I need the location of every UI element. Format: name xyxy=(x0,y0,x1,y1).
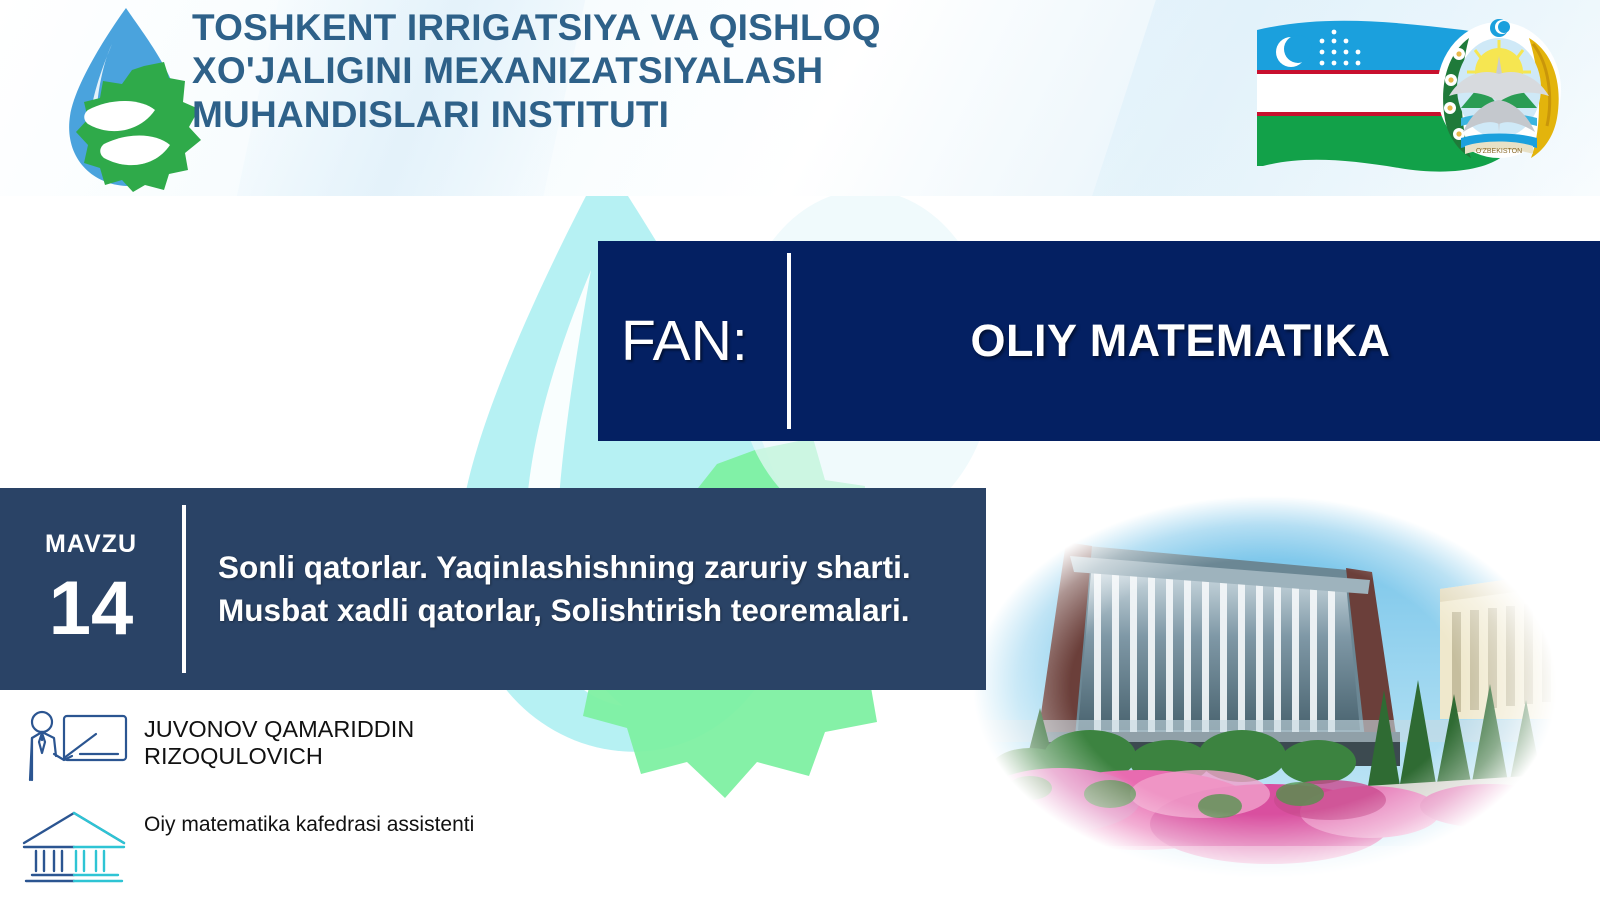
topic-divider xyxy=(182,505,186,673)
teacher-at-board-icon xyxy=(18,706,130,787)
presenter-position-row: Oiy matematika kafedrasi assistenti xyxy=(18,807,578,888)
topic-banner: MAVZU 14 Sonli qatorlar. Yaqinlashishnin… xyxy=(0,488,986,690)
svg-text:O'ZBEKISTON: O'ZBEKISTON xyxy=(1476,148,1522,155)
institute-name-line-1: TOSHKENT IRRIGATSIYA VA QISHLOQ xyxy=(192,6,1092,49)
topic-text: Sonli qatorlar. Yaqinlashishning zaruriy… xyxy=(218,546,958,633)
topic-number-block: MAVZU 14 xyxy=(0,532,182,647)
institute-name: TOSHKENT IRRIGATSIYA VA QISHLOQ XO'JALIG… xyxy=(192,6,1092,136)
water-droplet-leaf-gear-logo xyxy=(52,4,202,192)
presenter-name: JUVONOV QAMARIDDIN RIZOQULOVICH xyxy=(144,706,578,770)
subject-label: FAN: xyxy=(621,313,781,370)
presenter-position: Oiy matematika kafedrasi assistenti xyxy=(144,807,474,838)
presenter-block: JUVONOV QAMARIDDIN RIZOQULOVICH xyxy=(18,706,578,888)
subject-banner: FAN: OLIY MATEMATIKA xyxy=(598,241,1600,441)
university-building-icon xyxy=(18,807,130,888)
institute-building-photo xyxy=(970,494,1560,880)
topic-label: MAVZU xyxy=(0,532,182,557)
presenter-name-row: JUVONOV QAMARIDDIN RIZOQULOVICH xyxy=(18,706,578,787)
topic-number: 14 xyxy=(0,571,182,647)
slide-header: TOSHKENT IRRIGATSIYA VA QISHLOQ XO'JALIG… xyxy=(0,0,1600,196)
institute-name-line-3: MUHANDISLARI INSTITUTI xyxy=(192,93,1092,136)
uzbekistan-flag-with-emblem: O'ZBEKISTON xyxy=(1185,8,1575,193)
slide-canvas: TOSHKENT IRRIGATSIYA VA QISHLOQ XO'JALIG… xyxy=(0,0,1600,900)
subject-value: OLIY MATEMATIKA xyxy=(791,315,1600,367)
institute-name-line-2: XO'JALIGINI MEXANIZATSIYALASH xyxy=(192,49,1092,92)
